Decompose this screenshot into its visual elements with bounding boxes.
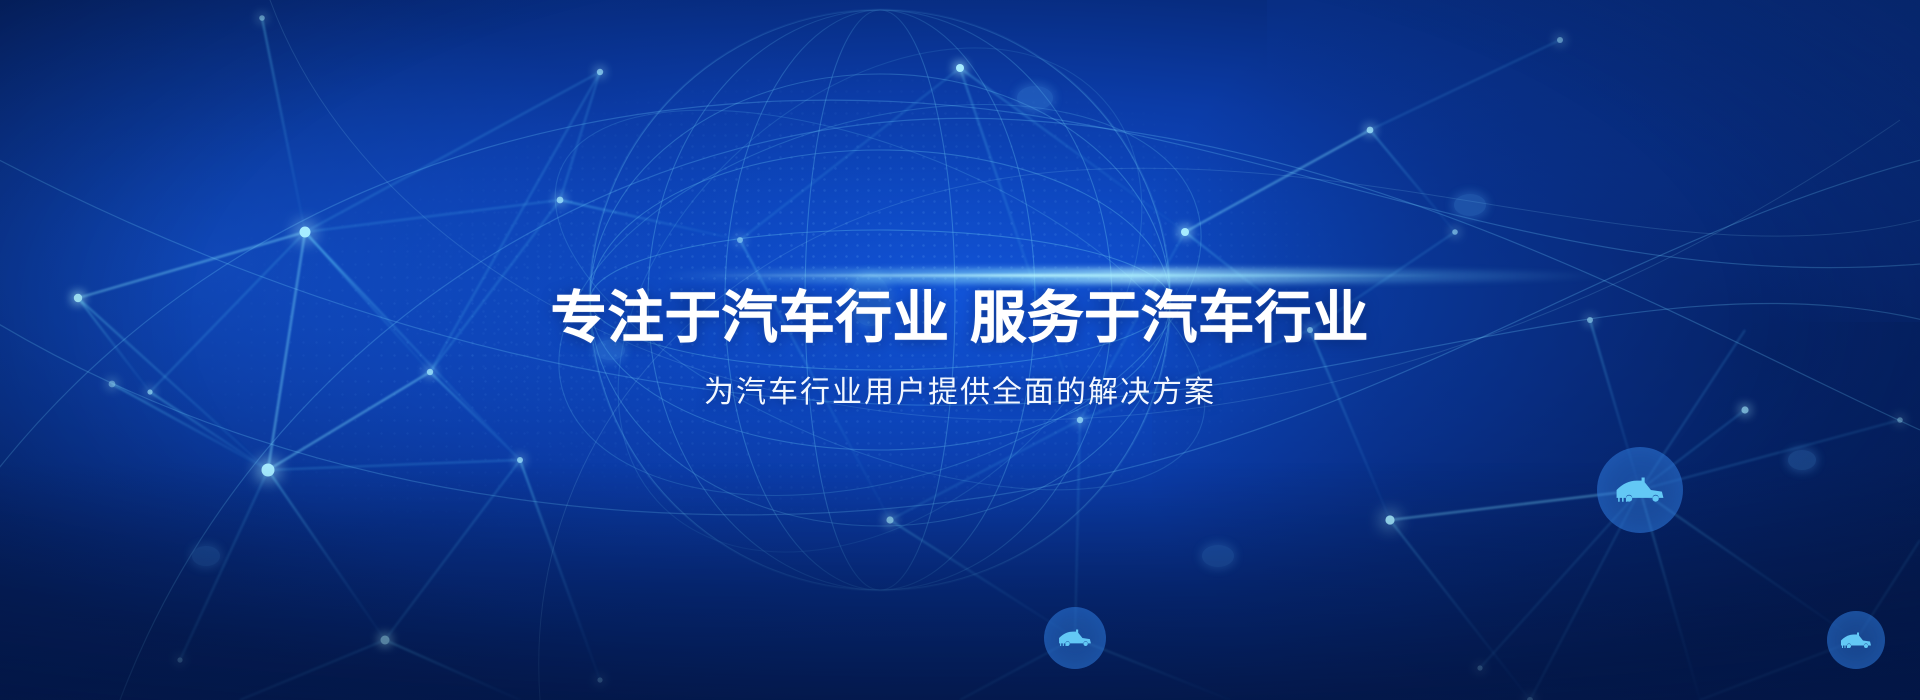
- truck-icon: [1840, 630, 1872, 651]
- truck-icon: [1058, 627, 1092, 649]
- truck-icon: [1615, 474, 1665, 506]
- light-streak-core-icon: [691, 274, 1459, 277]
- truck-badge-1[interactable]: [1044, 607, 1106, 669]
- truck-badge-2[interactable]: [1597, 447, 1683, 533]
- hero-banner: 专注于汽车行业 服务于汽车行业 为汽车行业用户提供全面的解决方案: [0, 0, 1920, 700]
- truck-badge-3[interactable]: [1827, 611, 1885, 669]
